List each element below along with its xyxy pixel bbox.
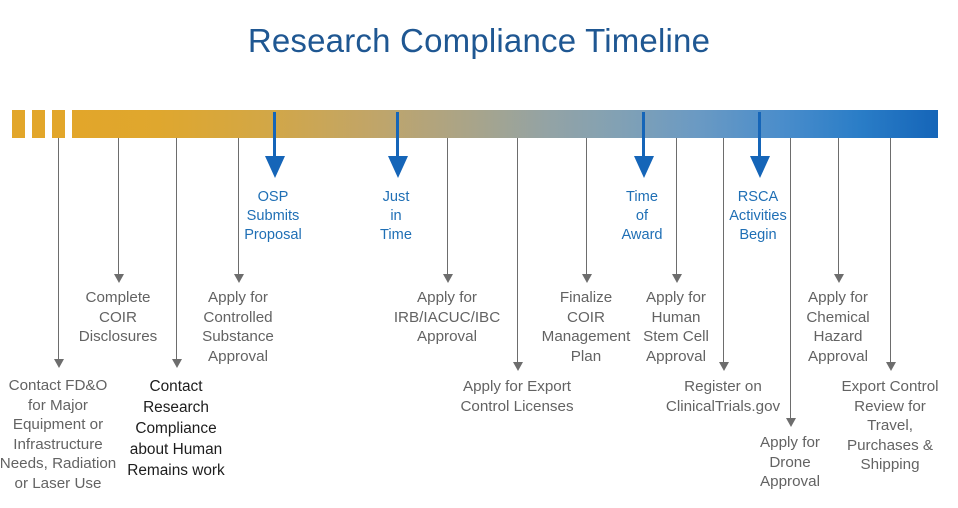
arrow-down-icon (443, 274, 453, 283)
arrow-down-icon (388, 156, 408, 178)
arrow-down-icon (886, 362, 896, 371)
milestone-connector-complete-coir-disclosures (118, 138, 119, 274)
arrow-down-icon (54, 359, 64, 368)
milestone-label-just-in-time: Just in Time (326, 188, 466, 245)
milestone-label-contact-research-compliance-human-remains: Contact Research Compliance about Human … (101, 376, 251, 481)
milestone-connector-apply-human-stem-cell (676, 138, 677, 274)
milestone-connector-rsca-activities-begin (758, 112, 761, 156)
milestone-connector-just-in-time (396, 112, 399, 156)
arrow-down-icon (719, 362, 729, 371)
milestone-connector-apply-controlled-substance (238, 138, 239, 274)
milestone-label-export-control-review-travel: Export Control Review for Travel, Purcha… (815, 377, 958, 475)
timeline-bar-lead-segment-3 (52, 110, 65, 138)
timeline-bar-lead-segment-2 (32, 110, 45, 138)
milestone-label-apply-export-control-licenses: Apply for Export Control Licenses (422, 377, 612, 416)
arrow-down-icon (834, 274, 844, 283)
timeline-bar-lead-segment-1 (12, 110, 25, 138)
arrow-down-icon (786, 418, 796, 427)
milestone-label-apply-human-stem-cell: Apply for Human Stem Cell Approval (611, 288, 741, 366)
milestone-label-apply-irb-iacuc-ibc: Apply for IRB/IACUC/IBC Approval (367, 288, 527, 347)
arrow-down-icon (582, 274, 592, 283)
milestone-connector-register-clinicaltrials (723, 138, 724, 362)
arrow-down-icon (750, 156, 770, 178)
milestone-label-rsca-activities-begin: RSCA Activities Begin (688, 188, 828, 245)
timeline-infographic: Research Compliance Timeline OSP Submits… (0, 0, 958, 508)
milestone-connector-osp-submits-proposal (273, 112, 276, 156)
milestone-connector-finalize-coir-management-plan (586, 138, 587, 274)
milestone-connector-apply-chemical-hazard (838, 138, 839, 274)
milestone-label-register-clinicaltrials: Register on ClinicalTrials.gov (633, 377, 813, 416)
arrow-down-icon (634, 156, 654, 178)
timeline-bar (0, 110, 958, 138)
arrow-down-icon (114, 274, 124, 283)
arrow-down-icon (234, 274, 244, 283)
page-title: Research Compliance Timeline (0, 22, 958, 60)
milestone-connector-apply-drone-approval (790, 138, 791, 418)
milestone-label-apply-controlled-substance: Apply for Controlled Substance Approval (172, 288, 304, 366)
arrow-down-icon (265, 156, 285, 178)
arrow-down-icon (672, 274, 682, 283)
timeline-bar-gradient (72, 110, 938, 138)
milestone-connector-export-control-review-travel (890, 138, 891, 362)
milestone-connector-apply-irb-iacuc-ibc (447, 138, 448, 274)
milestone-connector-time-of-award (642, 112, 645, 156)
milestone-label-complete-coir-disclosures: Complete COIR Disclosures (53, 288, 183, 347)
milestone-label-osp-submits-proposal: OSP Submits Proposal (203, 188, 343, 245)
milestone-label-apply-chemical-hazard: Apply for Chemical Hazard Approval (775, 288, 901, 366)
